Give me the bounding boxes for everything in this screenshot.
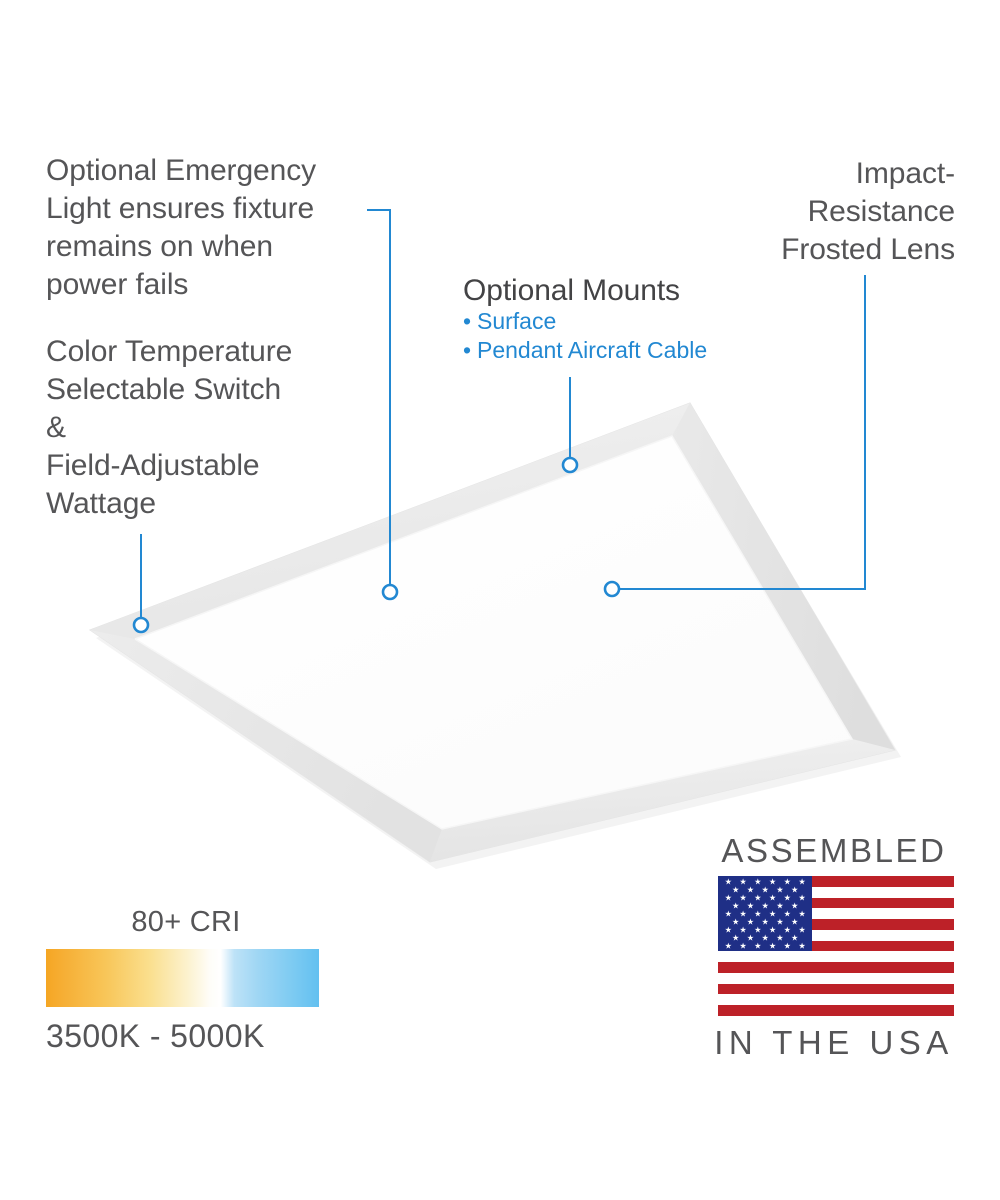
flag-star: [762, 902, 768, 908]
flag-star: [747, 935, 753, 941]
flag-star: [784, 943, 790, 949]
assembled-in-usa-badge: ASSEMBLED IN THE USA: [700, 832, 958, 1062]
callout-dot-lens: [605, 582, 619, 596]
flag-star: [792, 886, 798, 892]
product-feature-diagram: Optional Emergency Light ensures fixture…: [0, 0, 1000, 1200]
flag-star: [755, 927, 761, 933]
flag-stars: [718, 876, 812, 951]
flag-star: [762, 935, 768, 941]
flag-star: [747, 919, 753, 925]
callout-dot-emergency: [383, 585, 397, 599]
flag-star: [740, 943, 746, 949]
callout-text-frosted-lens: Impact- Resistance Frosted Lens: [640, 155, 955, 269]
callout-title-optional-mounts: Optional Mounts: [463, 272, 763, 310]
flag-star: [792, 935, 798, 941]
optional-mounts-list: •Surface •Pendant Aircraft Cable: [463, 307, 783, 365]
flag-star: [725, 927, 731, 933]
flag-star: [755, 910, 761, 916]
flag-star: [740, 878, 746, 884]
in-the-usa-label: IN THE USA: [710, 1024, 958, 1062]
mount-option-label: Pendant Aircraft Cable: [477, 337, 707, 363]
flag-star: [784, 878, 790, 884]
flag-star: [784, 910, 790, 916]
usa-flag-icon: [718, 876, 954, 1016]
flag-star: [725, 894, 731, 900]
flag-star: [777, 902, 783, 908]
list-item: •Pendant Aircraft Cable: [463, 336, 783, 365]
callout-dot-color-temperature: [134, 618, 148, 632]
kelvin-range-label: 3500K - 5000K: [46, 1017, 326, 1055]
flag-star: [799, 894, 805, 900]
flag-star: [799, 910, 805, 916]
callout-text-color-temperature: Color Temperature Selectable Switch & Fi…: [46, 333, 376, 523]
assembled-label: ASSEMBLED: [710, 832, 958, 870]
flag-star: [733, 919, 739, 925]
flag-star: [755, 878, 761, 884]
flag-star: [733, 886, 739, 892]
callout-text-emergency-light: Optional Emergency Light ensures fixture…: [46, 152, 386, 304]
flag-star: [769, 878, 775, 884]
flag-star: [740, 927, 746, 933]
flag-stripe: [718, 962, 954, 973]
flag-star: [725, 878, 731, 884]
flag-star: [777, 919, 783, 925]
flag-star: [740, 910, 746, 916]
cri-color-temperature-block: 80+ CRI 3500K - 5000K: [46, 905, 326, 1055]
flag-star: [792, 919, 798, 925]
flag-star: [733, 902, 739, 908]
flag-star: [747, 886, 753, 892]
cri-label: 80+ CRI: [46, 905, 326, 939]
flag-star: [792, 902, 798, 908]
flag-star: [769, 943, 775, 949]
flag-star: [733, 935, 739, 941]
flag-star: [777, 886, 783, 892]
bullet-icon: •: [463, 336, 477, 365]
bullet-icon: •: [463, 307, 477, 336]
flag-star: [799, 927, 805, 933]
flag-star: [725, 910, 731, 916]
flag-star: [799, 878, 805, 884]
mount-option-label: Surface: [477, 308, 556, 334]
flag-star: [769, 910, 775, 916]
flag-star: [769, 927, 775, 933]
flag-star: [762, 919, 768, 925]
color-temperature-gradient-bar: [46, 949, 319, 1007]
list-item: •Surface: [463, 307, 783, 336]
flag-star: [740, 894, 746, 900]
flag-star: [799, 943, 805, 949]
flag-star: [755, 894, 761, 900]
flag-star: [762, 886, 768, 892]
flag-star: [769, 894, 775, 900]
flag-star: [747, 902, 753, 908]
flag-star: [784, 894, 790, 900]
flag-star: [725, 943, 731, 949]
callout-dot-mounts: [563, 458, 577, 472]
flag-star: [784, 927, 790, 933]
flag-stripe: [718, 1005, 954, 1016]
flag-stripe: [718, 984, 954, 995]
flag-star: [755, 943, 761, 949]
flag-star: [777, 935, 783, 941]
